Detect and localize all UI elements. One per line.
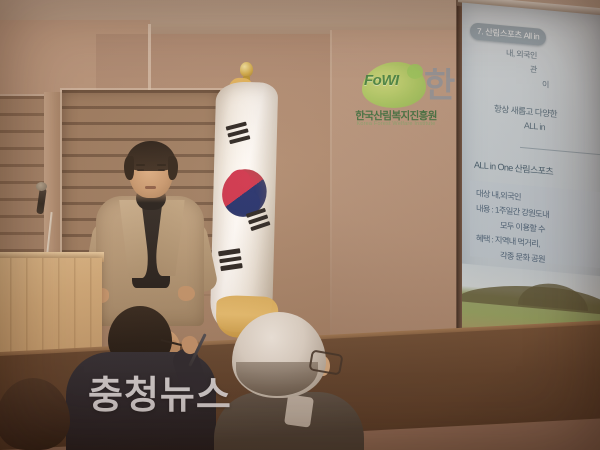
slide-divider xyxy=(520,147,600,156)
speaker-eyebrow-right xyxy=(157,164,166,166)
speaker-hand-right xyxy=(178,286,195,301)
wall-logo-english-name: Korea Forest Welfare Institute xyxy=(350,121,442,127)
slide-body-line-5: ALL in xyxy=(524,120,545,132)
flag-finial-icon xyxy=(240,62,253,77)
speaker-eyebrow-left xyxy=(136,164,145,166)
projection-screen: 7. 산림스포츠 All in 내, 외국인 관 이 항상 새롭고 다양한 AL… xyxy=(462,2,600,377)
wall-sign-character: 한 xyxy=(424,58,454,107)
speaker-hair-side-left xyxy=(124,156,134,180)
slide-body-line-2: 관 xyxy=(530,64,537,76)
microphone-windscreen xyxy=(36,182,47,191)
wall-logo-wordmark: FoWI xyxy=(364,72,422,89)
trigram-geon-icon xyxy=(226,122,252,148)
slide-body-line-4: 항상 새롭고 다양한 xyxy=(494,102,557,120)
trigram-ri-icon xyxy=(218,248,243,274)
slide-title: 7. 산림스포츠 All in xyxy=(470,22,546,46)
photograph-scene: FoWI 한국산림복지진흥원 Korea Forest Welfare Inst… xyxy=(0,0,600,450)
news-watermark: 충청뉴스 xyxy=(88,364,232,419)
presentation-slide: 7. 산림스포츠 All in 내, 외국인 관 이 항상 새롭고 다양한 AL… xyxy=(462,2,600,377)
slide-subheading: ALL in One 산림스포츠 xyxy=(474,158,553,178)
slide-body-line-1: 내, 외국인 xyxy=(506,48,537,62)
trigram-gam-icon xyxy=(246,208,272,234)
audience-2-collar xyxy=(284,394,314,427)
speaker-mouth xyxy=(145,186,156,189)
wall-corner-seam-secondary xyxy=(330,30,332,360)
slide-body-line-3: 이 xyxy=(542,79,549,91)
